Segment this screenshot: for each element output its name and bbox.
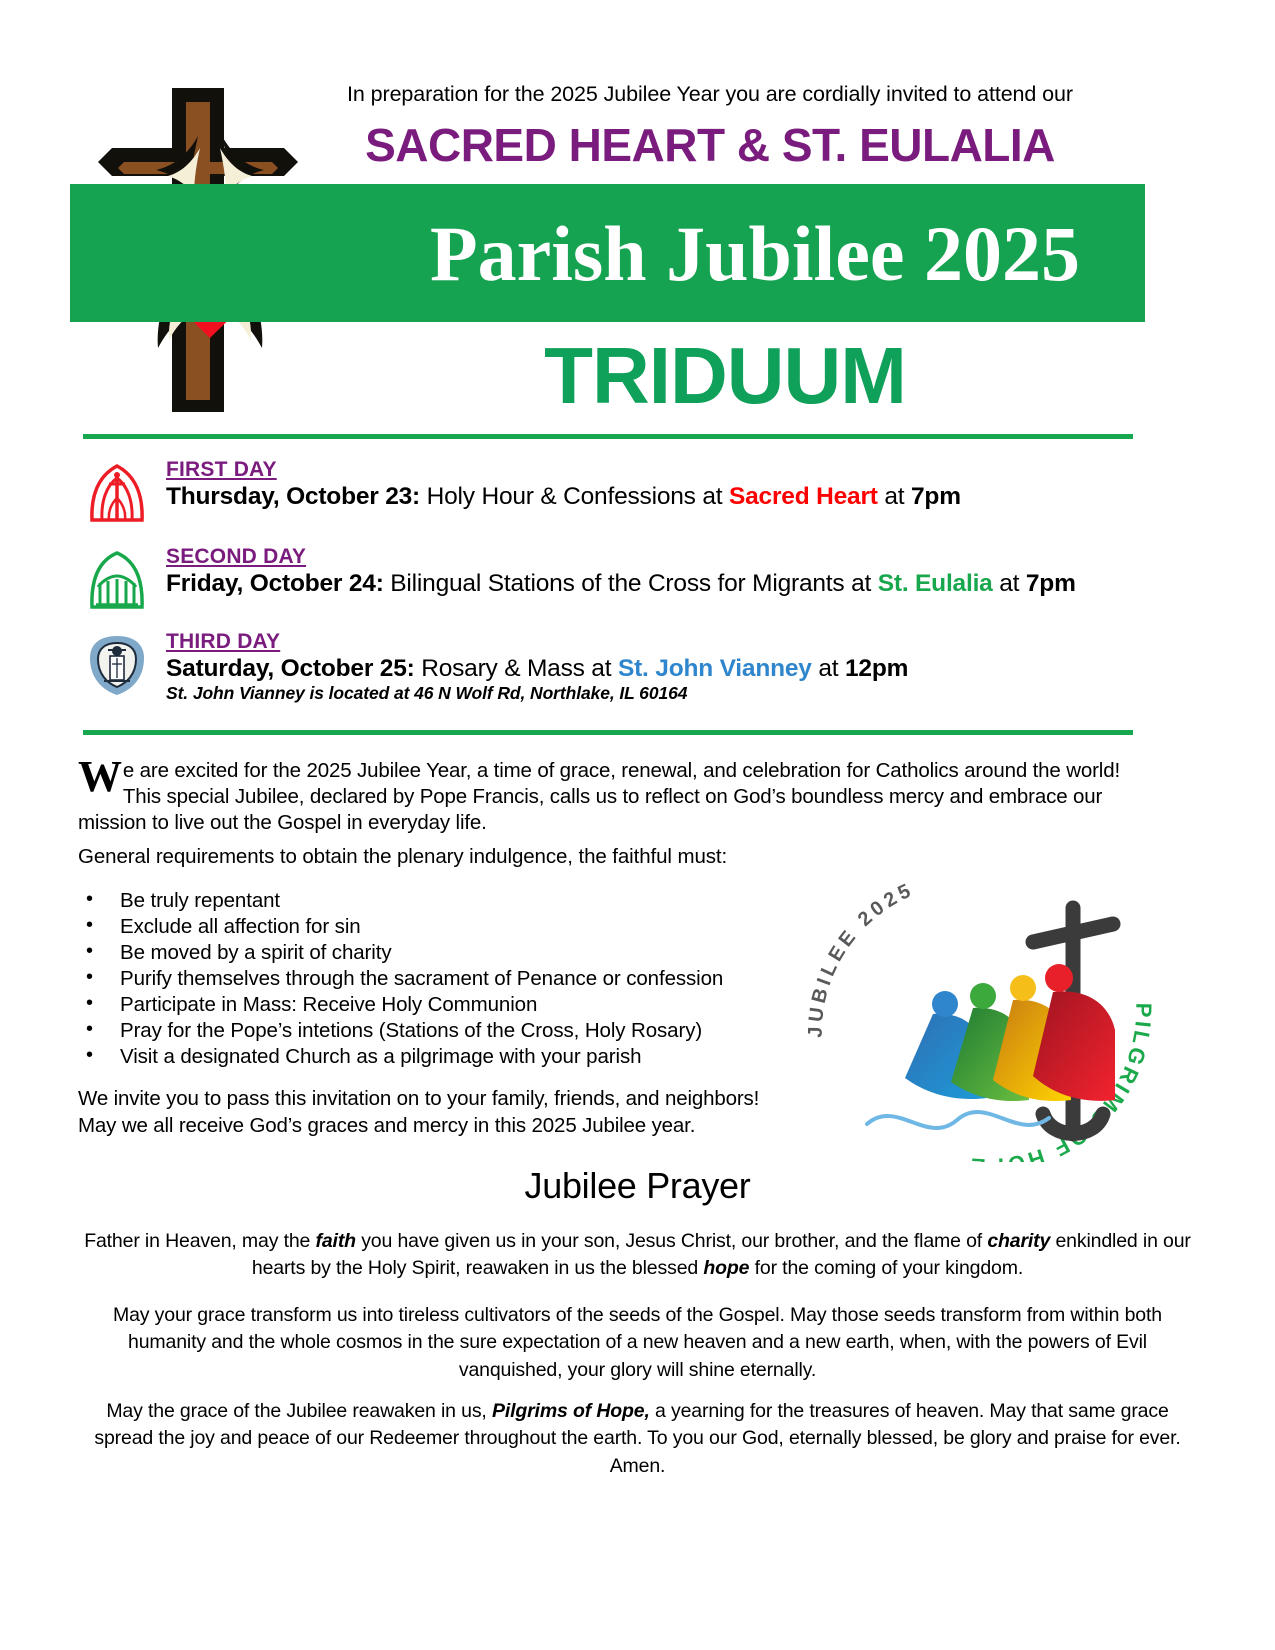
day-location-first: Sacred Heart [729,483,878,510]
list-item: Be truly repentant [78,888,838,914]
flyer-page: In preparation for the 2025 Jubilee Year… [0,0,1275,1650]
day-date-first: Thursday, October 23: [166,483,420,510]
crest-blue-icon [86,634,148,696]
outro-line-2: May we all receive God’s graces and merc… [78,1113,838,1140]
divider-bottom [83,730,1133,735]
requirements-list: Be truly repentant Exclude all affection… [78,888,838,1070]
prayer-paragraph-2: May your grace transform us into tireles… [75,1302,1200,1384]
prayer-p1-b: you have given us in your son, Jesus Chr… [356,1230,987,1252]
day-label-first: FIRST DAY [166,458,1156,482]
day-date-third: Saturday, October 25: [166,655,415,682]
day-desc-before-third: Rosary & Mass at [415,655,618,682]
day-line-first: Thursday, October 23: Holy Hour & Confes… [166,482,1156,511]
banner-title: Parish Jubilee 2025 [360,196,1150,312]
list-item: Participate in Mass: Receive Holy Commun… [78,992,838,1018]
day-note-third: St. John Vianney is located at 46 N Wolf… [166,683,1156,704]
day-location-second: St. Eulalia [878,570,993,597]
outro-line-1: We invite you to pass this invitation on… [78,1086,838,1113]
intro-text: e are excited for the 2025 Jubilee Year,… [78,759,1120,834]
day-entry-third: THIRD DAY Saturday, October 25: Rosary &… [86,630,1156,704]
day-desc-before-second: Bilingual Stations of the Cross for Migr… [384,570,878,597]
jubilee-2025-pilgrims-of-hope-logo: JUBILEE 2025 PILGRIMS OF HOPE [805,862,1165,1162]
day-entry-second: SECOND DAY Friday, October 24: Bilingual… [86,545,1156,598]
day-time-second: 7pm [1026,570,1076,597]
prayer-paragraph-1: Father in Heaven, may the faith you have… [75,1228,1200,1283]
intro-dropcap: W [78,759,123,795]
day-desc-after-first: at [878,483,911,510]
day-location-third: St. John Vianney [618,655,812,682]
svg-text:JUBILEE 2025: JUBILEE 2025 [805,878,918,1038]
parish-names-heading: SACRED HEART & ST. EULALIA [300,118,1120,172]
day-desc-after-second: at [993,570,1026,597]
triduum-heading: TRIDUUM [330,330,1120,422]
day-label-second: SECOND DAY [166,545,1156,569]
day-time-first: 7pm [911,483,961,510]
prayer-em-pilgrims: Pilgrims of Hope, [492,1400,650,1422]
outro-paragraph: We invite you to pass this invitation on… [78,1086,838,1139]
day-label-third: THIRD DAY [166,630,1156,654]
day-time-third: 12pm [845,655,908,682]
day-entry-first: FIRST DAY Thursday, October 23: Holy Hou… [86,458,1156,511]
day-desc-after-third: at [812,655,845,682]
day-desc-before-first: Holy Hour & Confessions at [420,483,729,510]
prayer-p3-a: May the grace of the Jubilee reawaken in… [106,1400,492,1422]
list-item: Be moved by a spirit of charity [78,940,838,966]
prayer-paragraph-3: May the grace of the Jubilee reawaken in… [75,1398,1200,1480]
prayer-em-charity: charity [987,1230,1050,1252]
prayer-title: Jubilee Prayer [0,1165,1275,1207]
intro-paragraph: We are excited for the 2025 Jubilee Year… [78,758,1153,837]
list-item: Exclude all affection for sin [78,914,838,940]
prayer-em-hope: hope [703,1257,749,1279]
day-date-second: Friday, October 24: [166,570,384,597]
day-line-second: Friday, October 24: Bilingual Stations o… [166,569,1156,598]
divider-top [83,434,1133,439]
prayer-p1-a: Father in Heaven, may the [84,1230,315,1252]
prayer-p1-d: for the coming of your kingdom. [749,1257,1023,1279]
requirements-heading: General requirements to obtain the plena… [78,845,838,869]
list-item: Pray for the Pope’s intetions (Stations … [78,1018,838,1044]
invitation-line: In preparation for the 2025 Jubilee Year… [300,82,1120,107]
day-line-third: Saturday, October 25: Rosary & Mass at S… [166,654,1156,683]
church-green-icon [86,549,148,611]
church-red-icon [86,462,148,524]
list-item: Purify themselves through the sacrament … [78,966,838,992]
prayer-em-faith: faith [316,1230,356,1252]
list-item: Visit a designated Church as a pilgrimag… [78,1044,838,1070]
